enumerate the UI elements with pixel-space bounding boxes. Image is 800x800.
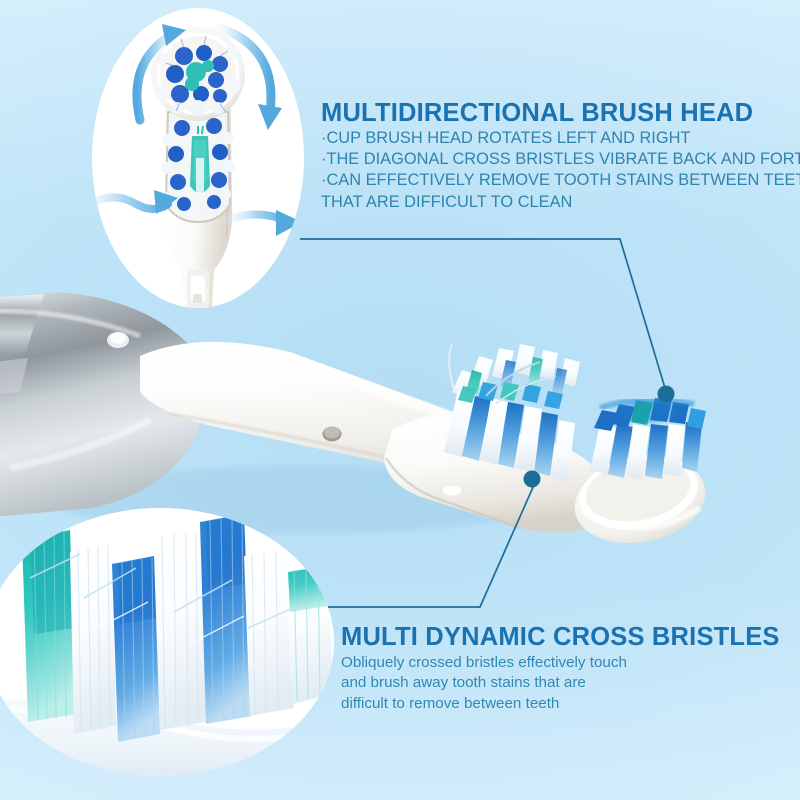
heading-multidirectional-brush-head: MULTIDIRECTIONAL BRUSH HEAD: [321, 98, 800, 128]
inset-top-artwork: [92, 8, 304, 308]
vibration-arrow-right: [228, 210, 302, 236]
body-line-1: Obliquely crossed bristles effectively t…: [341, 653, 780, 673]
body-line-3: ·CAN EFFECTIVELY REMOVE TOOTH STAINS BET…: [321, 170, 800, 191]
text-block-multidirectional-brush-head: MULTIDIRECTIONAL BRUSH HEAD ·CUP BRUSH H…: [321, 98, 800, 213]
body-line-3: difficult to remove between teeth: [341, 694, 780, 714]
inset-multi-dynamic-cross-bristles: [0, 508, 334, 776]
body-line-2: ·THE DIAGONAL CROSS BRISTLES VIBRATE BAC…: [321, 149, 800, 170]
heading-multi-dynamic-cross-bristles: MULTI DYNAMIC CROSS BRISTLES: [341, 622, 780, 653]
infographic-canvas: MULTIDIRECTIONAL BRUSH HEAD ·CUP BRUSH H…: [0, 0, 800, 800]
bristle-tufts: [22, 514, 334, 742]
inset-multidirectional-brush-head: [92, 8, 304, 308]
vent-hole: [323, 427, 342, 442]
body-line-1: ·CUP BRUSH HEAD ROTATES LEFT AND RIGHT: [321, 128, 800, 149]
text-block-multi-dynamic-cross-bristles: MULTI DYNAMIC CROSS BRISTLES Obliquely c…: [341, 622, 780, 714]
body-line-4: THAT ARE DIFFICULT TO CLEAN: [321, 192, 800, 213]
inset-bottom-artwork: [0, 508, 334, 776]
body-line-2: and brush away tooth stains that are: [341, 673, 780, 693]
round-head-bristles: [590, 398, 706, 480]
